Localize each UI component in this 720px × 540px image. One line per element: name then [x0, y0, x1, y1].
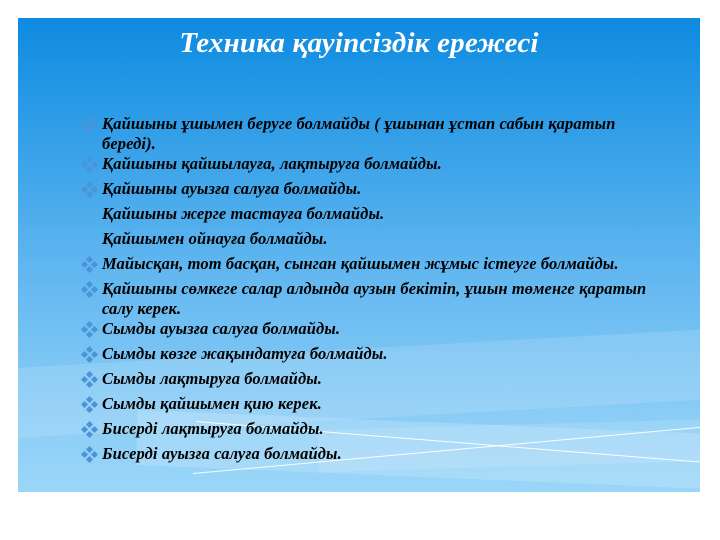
safety-rules-bullet-list: Қайшыны ұшымен беруге болмайды ( ұшынан … [80, 114, 660, 469]
list-item: Сымды лақтыруға болмайды. [80, 369, 660, 393]
diamond-cluster-bullet-icon [80, 346, 102, 368]
list-item: Қайшыны сөмкеге салар алдында аузын бекі… [80, 279, 660, 318]
diamond-cluster-bullet-icon [80, 446, 102, 468]
list-item-label: Сымды көзге жақындатуға болмайды. [102, 344, 660, 364]
list-item-label: Майысқан, тот басқан, сынган қайшымен жұ… [102, 254, 660, 274]
diamond-cluster-bullet-icon [80, 256, 102, 278]
diamond-cluster-bullet-icon [80, 321, 102, 343]
list-item-label: Сымды қайшымен қию керек. [102, 394, 660, 414]
diamond-cluster-bullet-icon [80, 421, 102, 443]
diamond-cluster-bullet-icon [80, 116, 102, 138]
list-item-label: Бисерді лақтыруға болмайды. [102, 419, 660, 439]
diamond-cluster-bullet-icon [80, 371, 102, 393]
list-item-label: Қайшымен ойнауға болмайды. [102, 229, 660, 249]
list-item: Бисерді лақтыруға болмайды. [80, 419, 660, 443]
diamond-cluster-bullet-icon [80, 156, 102, 178]
list-item: Сымды ауызға салуға болмайды. [80, 319, 660, 343]
diamond-cluster-bullet-icon [80, 396, 102, 418]
slide-canvas: Техника қауіпсіздік ережесі Қайшыны ұшым… [0, 0, 720, 540]
list-item: Бисерді ауызға салуға болмайды. [80, 444, 660, 468]
list-item: Майысқан, тот басқан, сынган қайшымен жұ… [80, 254, 660, 278]
list-item-label: Қайшыны жерге тастауға болмайды. [102, 204, 660, 224]
list-item-label: Сымды лақтыруға болмайды. [102, 369, 660, 389]
slide-title: Техника қауіпсіздік ережесі [18, 26, 700, 60]
list-item: Қайшыны қайшылауға, лақтыруға болмайды. [80, 154, 660, 178]
list-item: Қайшыны ұшымен беруге болмайды ( ұшынан … [80, 114, 660, 153]
list-item-label: Қайшыны ұшымен беруге болмайды ( ұшынан … [102, 114, 660, 153]
list-item: Қайшымен ойнауға болмайды. [80, 229, 660, 253]
diamond-cluster-bullet-icon [80, 281, 102, 303]
list-item: Сымды көзге жақындатуға болмайды. [80, 344, 660, 368]
list-item: Сымды қайшымен қию керек. [80, 394, 660, 418]
list-item-label: Бисерді ауызға салуға болмайды. [102, 444, 660, 464]
list-item: Қайшыны ауызға салуға болмайды. [80, 179, 660, 203]
list-item: Қайшыны жерге тастауға болмайды. [80, 204, 660, 228]
list-item-label: Қайшыны қайшылауға, лақтыруға болмайды. [102, 154, 660, 174]
list-item-label: Қайшыны ауызға салуға болмайды. [102, 179, 660, 199]
list-item-label: Қайшыны сөмкеге салар алдында аузын бекі… [102, 279, 660, 318]
diamond-cluster-bullet-icon [80, 181, 102, 203]
list-item-label: Сымды ауызға салуға болмайды. [102, 319, 660, 339]
